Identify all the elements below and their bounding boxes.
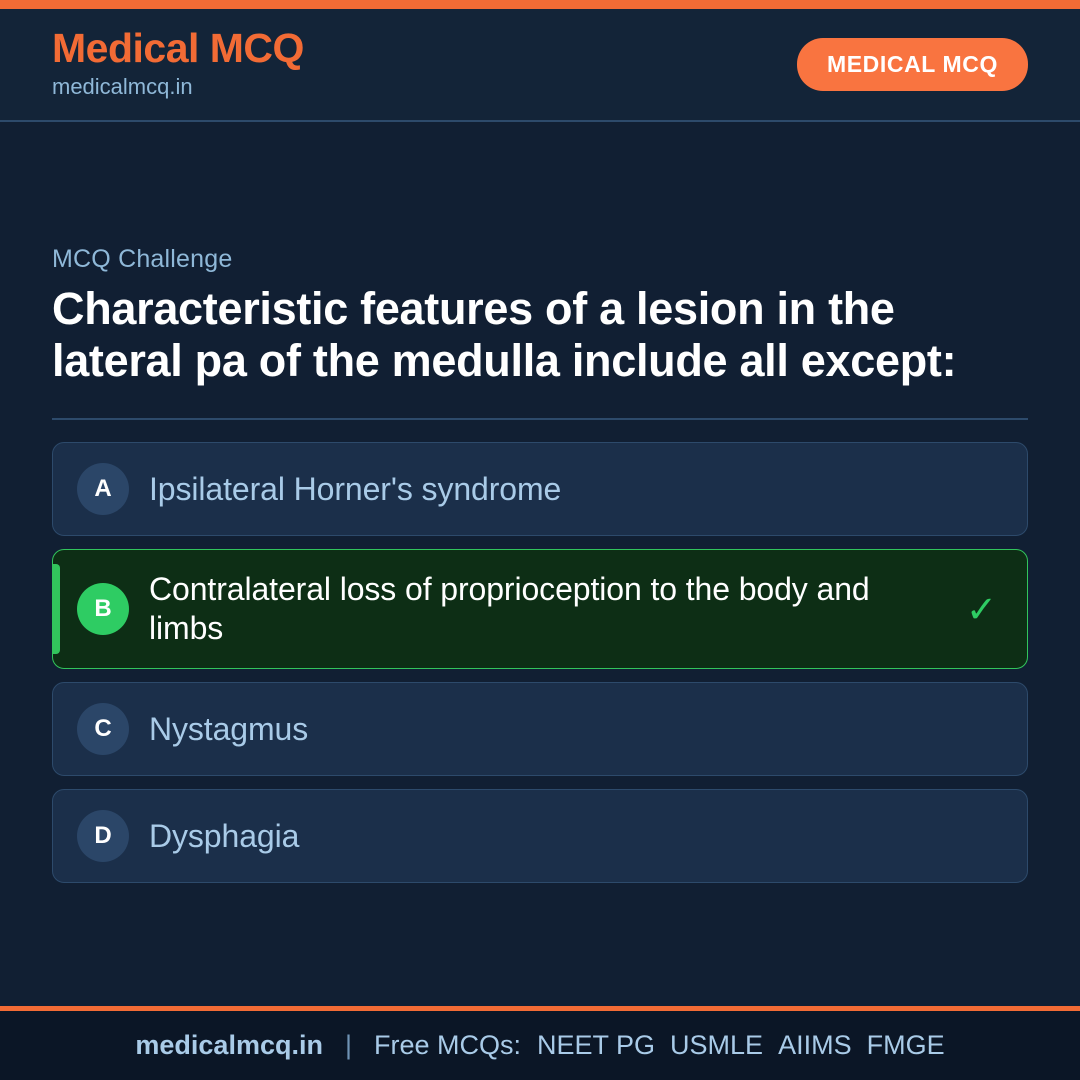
option-letter-d: D: [77, 810, 129, 862]
header: Medical MCQ medicalmcq.in MEDICAL MCQ: [0, 9, 1080, 122]
footer: medicalmcq.in | Free MCQs: NEET PG USMLE…: [0, 1006, 1080, 1080]
brand-subtitle: medicalmcq.in: [52, 73, 304, 102]
kicker-label: MCQ Challenge: [52, 245, 1028, 274]
check-icon-b: ✓: [966, 591, 1003, 628]
footer-exam-neet-pg: NEET PG: [537, 1030, 655, 1061]
options-list: A Ipsilateral Horner's syndrome B Contra…: [52, 442, 1028, 883]
footer-site-label: medicalmcq.in: [135, 1030, 323, 1061]
brand-block: Medical MCQ medicalmcq.in: [52, 27, 304, 102]
footer-exam-aiims: AIIMS: [778, 1030, 852, 1061]
question-divider: [52, 418, 1028, 420]
footer-separator: |: [339, 1030, 358, 1061]
option-text-a: Ipsilateral Horner's syndrome: [149, 470, 977, 509]
footer-exam-usmle: USMLE: [670, 1030, 763, 1061]
option-d[interactable]: D Dysphagia: [52, 789, 1028, 883]
brand-badge: MEDICAL MCQ: [797, 38, 1028, 91]
brand-title: Medical MCQ: [52, 27, 304, 70]
option-text-c: Nystagmus: [149, 710, 977, 749]
option-text-b: Contralateral loss of proprioception to …: [149, 570, 946, 648]
option-letter-c: C: [77, 703, 129, 755]
footer-exam-fmge: FMGE: [867, 1030, 945, 1061]
option-text-d: Dysphagia: [149, 817, 977, 856]
option-a[interactable]: A Ipsilateral Horner's syndrome: [52, 442, 1028, 536]
option-letter-b: B: [77, 583, 129, 635]
top-accent-bar: [0, 0, 1080, 9]
question-text: Characteristic features of a lesion in t…: [52, 283, 1028, 388]
footer-prefix: Free MCQs:: [374, 1030, 521, 1061]
option-letter-a: A: [77, 463, 129, 515]
mcq-card: Medical MCQ medicalmcq.in MEDICAL MCQ MC…: [0, 0, 1080, 1080]
question-section: MCQ Challenge Characteristic features of…: [0, 122, 1080, 1006]
option-b[interactable]: B Contralateral loss of proprioception t…: [52, 549, 1028, 669]
option-c[interactable]: C Nystagmus: [52, 682, 1028, 776]
footer-exam-list: NEET PG USMLE AIIMS FMGE: [537, 1030, 945, 1061]
